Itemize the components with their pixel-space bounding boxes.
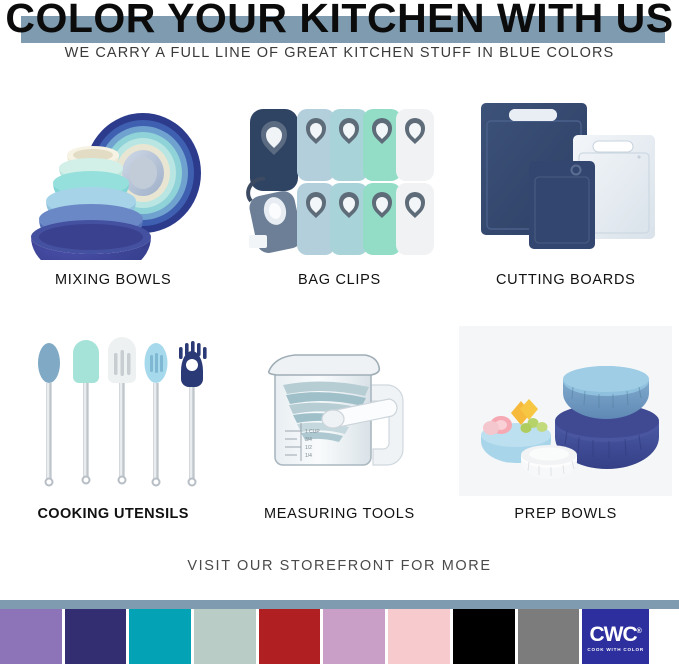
cooking-utensils-thumb[interactable] <box>7 326 220 496</box>
cutting-boards-thumb[interactable] <box>459 92 672 262</box>
swatch-purple <box>0 609 62 664</box>
logo-tagline: COOK WITH COLOR <box>587 647 644 652</box>
product-row-1: MIXING BOWLS <box>0 92 679 288</box>
swatch-teal <box>129 609 191 664</box>
mixing-bowls-thumb[interactable] <box>7 92 220 262</box>
product-cell-cooking-utensils[interactable]: COOKING UTENSILS <box>0 326 226 522</box>
svg-text:1 CUP: 1 CUP <box>305 429 320 435</box>
prep-bowls-thumb[interactable] <box>459 326 672 496</box>
bag-clips-thumb[interactable] <box>233 92 446 262</box>
product-label: MIXING BOWLS <box>55 272 171 288</box>
product-label: COOKING UTENSILS <box>37 506 188 522</box>
product-cell-cutting-boards[interactable]: CUTTING BOARDS <box>453 92 679 288</box>
page-title: COLOR YOUR KITCHEN WITH US <box>0 0 679 42</box>
swatch-light-pink <box>388 609 450 664</box>
svg-text:3/4: 3/4 <box>305 437 312 443</box>
swatch-black <box>453 609 515 664</box>
storefront-cta[interactable]: VISIT OUR STOREFRONT FOR MORE <box>0 558 679 574</box>
product-cell-measuring-tools[interactable]: 1 CUP 3/4 1/2 1/4 MEASURING TOOLS <box>226 326 452 522</box>
swatch-red <box>259 609 321 664</box>
page-subtitle: WE CARRY A FULL LINE OF GREAT KITCHEN ST… <box>0 45 679 61</box>
product-cell-bag-clips[interactable]: BAG CLIPS <box>226 92 452 288</box>
banner-header: COLOR YOUR KITCHEN WITH US WE CARRY A FU… <box>0 0 679 72</box>
product-grid: MIXING BOWLS <box>0 92 679 522</box>
product-row-2: COOKING UTENSILS <box>0 326 679 522</box>
prep-bowls-image <box>463 327 668 495</box>
promotional-banner: COLOR YOUR KITCHEN WITH US WE CARRY A FU… <box>0 0 679 664</box>
swatch-row: CWC® COOK WITH COLOR <box>0 609 679 664</box>
product-label: MEASURING TOOLS <box>264 506 415 522</box>
swatch-mauve-pink <box>323 609 385 664</box>
logo-mark-text: CWC <box>590 623 637 646</box>
svg-text:1/2: 1/2 <box>305 445 312 451</box>
strip-top-bar <box>0 600 679 609</box>
svg-text:1/4: 1/4 <box>305 453 312 459</box>
product-label: BAG CLIPS <box>298 272 381 288</box>
color-strip: CWC® COOK WITH COLOR <box>0 600 679 664</box>
product-label: CUTTING BOARDS <box>496 272 636 288</box>
mixing-bowls-image <box>13 95 213 260</box>
registered-trademark-icon: ® <box>637 628 642 635</box>
measuring-tools-thumb[interactable]: 1 CUP 3/4 1/2 1/4 <box>233 326 446 496</box>
swatch-dark-navy <box>65 609 127 664</box>
swatch-sage <box>194 609 256 664</box>
measuring-tools-image: 1 CUP 3/4 1/2 1/4 <box>239 327 439 495</box>
product-label: PREP BOWLS <box>514 506 617 522</box>
brand-logo[interactable]: CWC® COOK WITH COLOR <box>582 609 649 664</box>
cooking-utensils-image <box>13 327 213 495</box>
product-cell-mixing-bowls[interactable]: MIXING BOWLS <box>0 92 226 288</box>
logo-wordmark: CWC® <box>590 622 642 645</box>
product-cell-prep-bowls[interactable]: PREP BOWLS <box>453 326 679 522</box>
bag-clips-image <box>239 95 439 260</box>
swatch-gray <box>518 609 580 664</box>
cutting-boards-image <box>463 95 668 260</box>
